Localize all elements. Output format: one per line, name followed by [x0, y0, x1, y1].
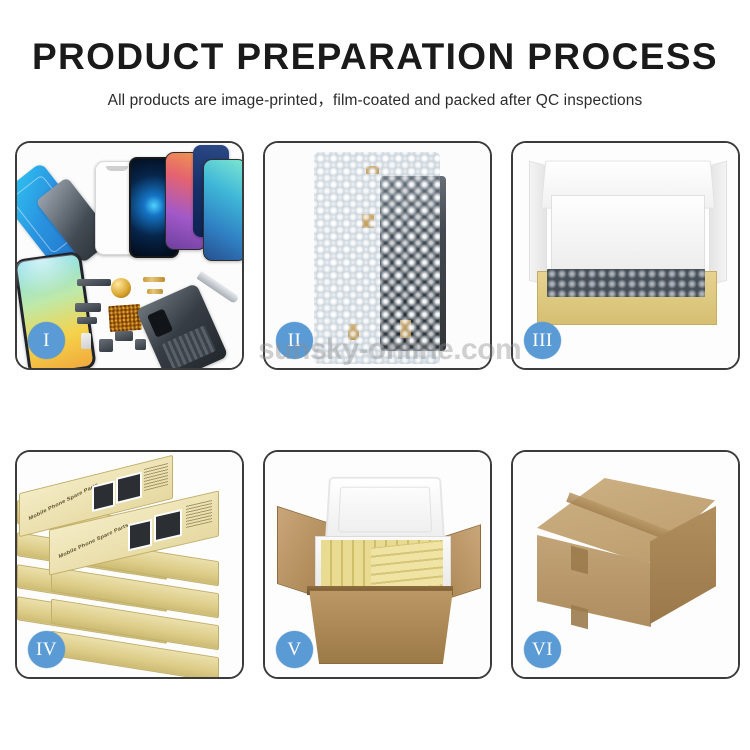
carton-tape-mark [571, 546, 588, 575]
flex-cable-part [147, 289, 163, 294]
bubble-texture [314, 152, 440, 364]
spare-part [115, 331, 133, 341]
box-label-window [154, 509, 182, 542]
box-label-window [128, 519, 152, 552]
box-label-text: Mobile Phone Spare Parts [58, 523, 129, 561]
step-badge-5: V [276, 631, 313, 668]
process-step-panel-1[interactable]: I [15, 141, 244, 370]
step-badge-2: II [276, 322, 313, 359]
yellow-boxes-row [371, 540, 443, 592]
process-step-panel-3[interactable]: III [511, 141, 740, 370]
box-label-window [116, 472, 142, 504]
process-step-panel-4[interactable]: Mobile Phone Spare Parts Mobile Phone Sp… [15, 450, 244, 679]
step-badge-4: IV [28, 631, 65, 668]
spare-part [75, 303, 101, 312]
teal-phone-screen [203, 159, 242, 261]
process-step-panel-2[interactable]: II [263, 141, 492, 370]
carton-tape-mark [571, 605, 588, 630]
spare-part [135, 339, 146, 350]
bubble-wrapped-contents [547, 269, 705, 297]
spare-part [81, 333, 91, 349]
step-badge-1: I [28, 322, 65, 359]
white-foam-sheet [551, 195, 705, 275]
gold-round-part [111, 278, 131, 298]
step-badge-6: VI [524, 631, 561, 668]
step-badge-3: III [524, 322, 561, 359]
process-step-panel-5[interactable]: V [263, 450, 492, 679]
spare-part [99, 339, 113, 352]
carton-body [309, 590, 453, 664]
foam-lid [325, 477, 445, 544]
bubble-wrap-bag [314, 152, 440, 364]
flex-cable-part [143, 277, 165, 282]
page-subtitle: All products are image-printed，film-coat… [0, 88, 750, 110]
spare-part [77, 279, 111, 286]
box-label-window [92, 480, 115, 512]
gold-connector-grid [108, 304, 142, 332]
box-label-spec-lines [144, 463, 168, 491]
box-label-text: Mobile Phone Spare Parts [28, 482, 99, 522]
box-label-spec-lines [186, 499, 212, 528]
process-step-panel-6[interactable]: VI [511, 450, 740, 679]
page-title: PRODUCT PREPARATION PROCESS [0, 38, 750, 75]
spare-part [77, 317, 97, 324]
process-step-grid: I II III [15, 141, 737, 679]
page-header: PRODUCT PREPARATION PROCESS All products… [0, 0, 750, 110]
